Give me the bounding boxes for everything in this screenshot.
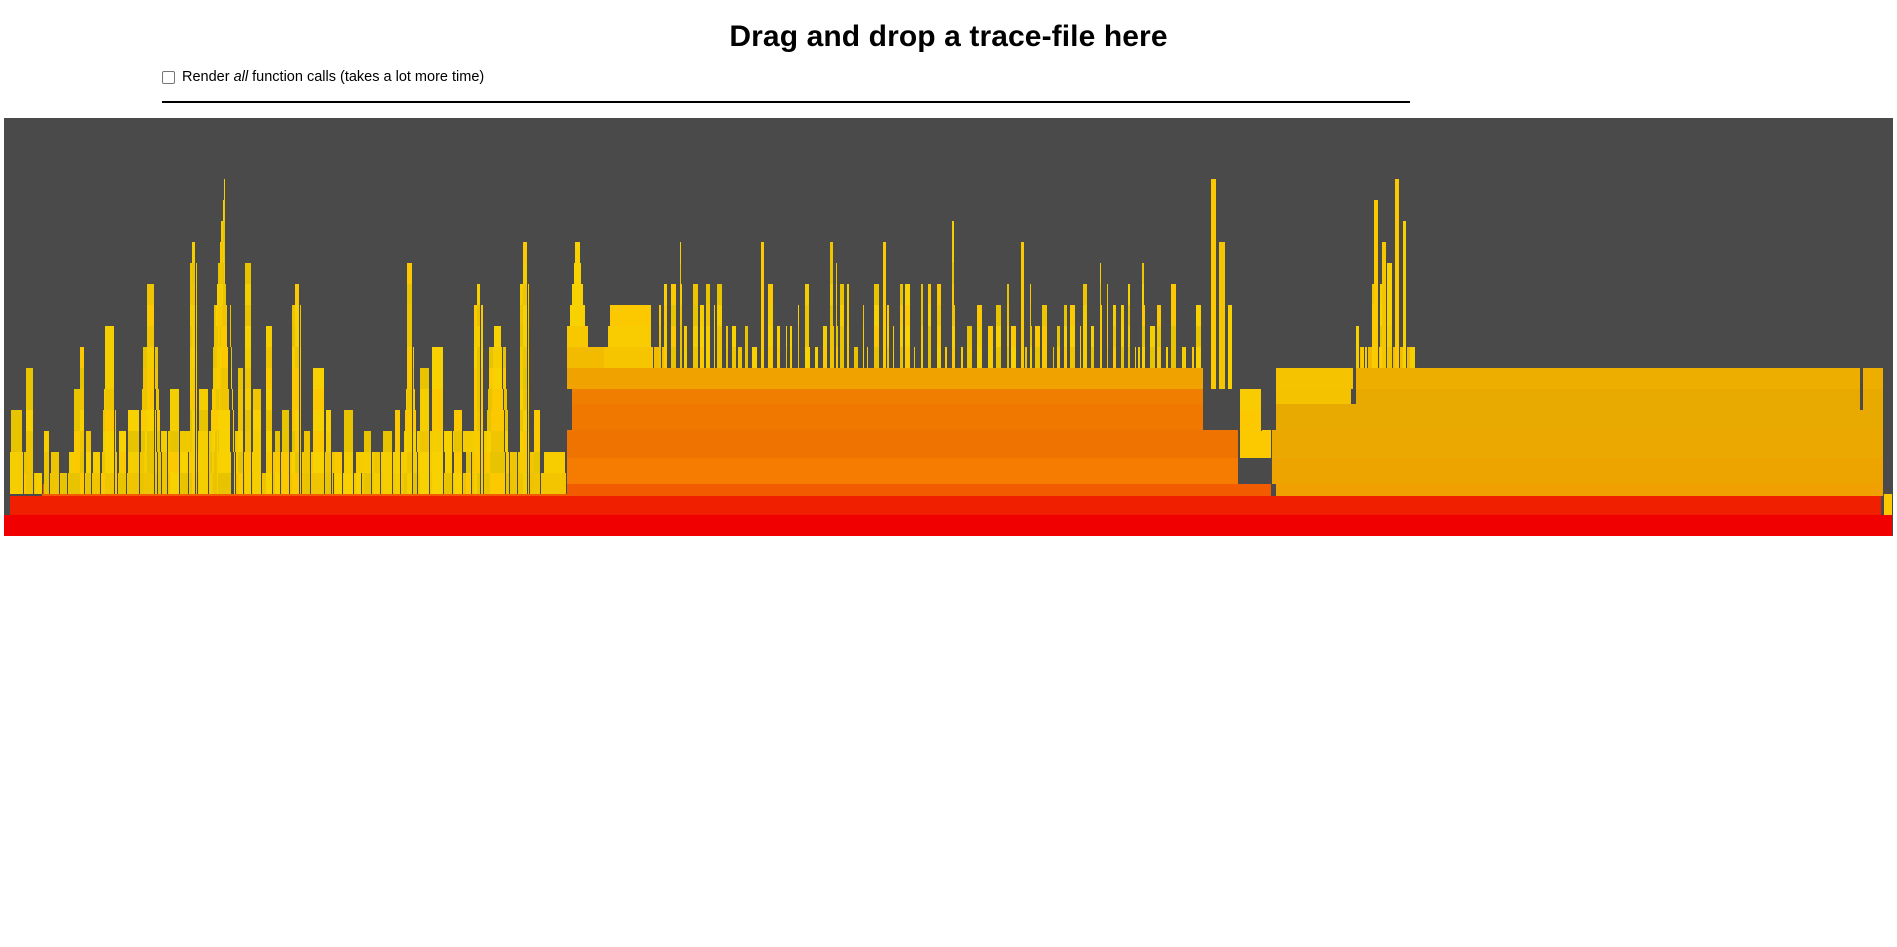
flame-frame[interactable] [523, 263, 528, 284]
flame-frame[interactable] [147, 473, 155, 494]
flame-frame[interactable] [996, 305, 1002, 326]
flame-frame[interactable] [224, 200, 226, 221]
flame-frame[interactable] [768, 305, 774, 326]
flame-frame[interactable] [714, 326, 716, 347]
flame-frame[interactable] [874, 284, 880, 305]
render-all-checkbox[interactable] [162, 71, 175, 84]
flame-frame[interactable] [671, 347, 677, 368]
flame-frame[interactable] [900, 347, 904, 368]
flame-frame[interactable] [863, 347, 865, 368]
flame-frame[interactable] [170, 431, 180, 452]
flame-frame[interactable] [1395, 179, 1400, 200]
flame-frame[interactable] [192, 452, 196, 473]
flame-frame[interactable] [1064, 326, 1068, 347]
flame-frame[interactable] [867, 347, 869, 368]
flame-frame[interactable] [512, 473, 518, 494]
flame-frame[interactable] [26, 368, 34, 389]
flame-frame[interactable] [245, 410, 252, 431]
flame-frame[interactable] [977, 326, 983, 347]
flame-frame[interactable] [798, 305, 800, 326]
flame-frame[interactable] [1100, 284, 1102, 305]
flame-frame[interactable] [1228, 347, 1233, 368]
flame-frame[interactable] [693, 347, 699, 368]
flame-frame[interactable] [928, 347, 932, 368]
flame-frame[interactable] [572, 284, 584, 305]
flame-frame[interactable] [840, 347, 845, 368]
flame-frame[interactable] [1403, 221, 1407, 242]
flame-frame[interactable] [147, 431, 155, 452]
flame-frame[interactable] [1121, 326, 1125, 347]
flame-frame[interactable] [700, 347, 705, 368]
flame-frame[interactable] [1382, 326, 1387, 347]
flame-frame[interactable] [407, 452, 413, 473]
flame-frame[interactable] [1196, 347, 1202, 368]
flame-frame[interactable] [937, 326, 942, 347]
flame-frame[interactable] [1007, 326, 1010, 347]
flame-frame[interactable] [407, 305, 413, 326]
flame-frame[interactable] [1100, 305, 1103, 326]
flame-frame[interactable] [1083, 305, 1088, 326]
flame-frame[interactable] [395, 452, 401, 473]
flame-frame[interactable] [313, 410, 325, 431]
flame-frame[interactable] [245, 347, 252, 368]
flame-frame[interactable] [1142, 263, 1145, 284]
flame-frame[interactable] [383, 473, 393, 494]
flame-frame[interactable] [700, 305, 705, 326]
flame-frame[interactable] [840, 326, 845, 347]
flame-frame[interactable] [295, 389, 300, 410]
flame-frame[interactable] [454, 452, 463, 473]
flame-frame[interactable] [80, 452, 85, 473]
flame-frame[interactable] [570, 305, 586, 326]
flame-frame[interactable] [407, 368, 413, 389]
flame-frame[interactable] [523, 284, 528, 305]
flame-frame-depth-5[interactable] [1276, 404, 1884, 430]
flame-frame[interactable] [680, 326, 683, 347]
flame-frame[interactable] [805, 347, 811, 368]
flame-frame[interactable] [1021, 305, 1025, 326]
flame-frame[interactable] [170, 473, 180, 494]
flame-frame[interactable] [1211, 200, 1217, 221]
flame-frame[interactable] [44, 452, 50, 473]
flame-frame[interactable] [937, 284, 942, 305]
flame-frame[interactable] [893, 326, 895, 347]
flame-frame[interactable] [1374, 284, 1379, 305]
flame-frame[interactable] [717, 305, 723, 326]
flame-frame[interactable] [86, 473, 92, 494]
flame-frame[interactable] [659, 347, 662, 368]
flame-frame[interactable] [238, 368, 244, 389]
flame-frame[interactable] [11, 410, 23, 431]
flame-frame[interactable] [952, 242, 955, 263]
flame-frame[interactable] [1403, 242, 1407, 263]
flame-frame[interactable] [523, 410, 528, 431]
flame-frame[interactable] [395, 410, 401, 431]
flame-frame[interactable] [854, 347, 859, 368]
flame-frame[interactable] [147, 326, 155, 347]
flame-frame[interactable] [1403, 347, 1407, 368]
flame-frame[interactable] [1395, 200, 1400, 221]
flame-frame[interactable] [224, 179, 226, 200]
flame-frame[interactable] [671, 326, 677, 347]
flame-frame[interactable] [761, 242, 765, 263]
flame-frame[interactable] [977, 305, 983, 326]
flame-frame[interactable] [777, 347, 781, 368]
flame-frame[interactable] [1410, 347, 1416, 368]
flame-frame[interactable] [1211, 221, 1217, 242]
flame-frame[interactable] [147, 284, 155, 305]
flame-frame[interactable] [344, 473, 354, 494]
flame-frame[interactable] [266, 431, 273, 452]
flame-frame[interactable] [836, 326, 839, 347]
flame-frame[interactable] [245, 305, 252, 326]
flame-frame[interactable] [523, 242, 528, 263]
flame-frame[interactable] [1113, 305, 1117, 326]
flame-frame[interactable] [93, 452, 101, 473]
flame-frame[interactable] [830, 242, 834, 263]
flame-frame[interactable] [275, 452, 281, 473]
flame-frame[interactable] [192, 347, 196, 368]
flame-frame[interactable] [44, 473, 50, 494]
flame-frame-depth-4[interactable] [1272, 430, 1884, 458]
flame-frame[interactable] [335, 452, 343, 473]
flame-frame[interactable] [238, 473, 244, 494]
flame-frame[interactable] [432, 389, 444, 410]
flame-frame[interactable] [714, 347, 716, 368]
flame-frame[interactable] [1374, 326, 1379, 347]
flame-frame[interactable] [805, 326, 810, 347]
flame-frame-depth-3[interactable] [567, 458, 1239, 484]
flame-frame[interactable] [1030, 347, 1033, 368]
flame-frame[interactable] [282, 452, 290, 473]
flame-frame[interactable] [326, 410, 332, 431]
flame-frame[interactable] [147, 368, 155, 389]
flame-frame[interactable] [1070, 305, 1076, 326]
flame-frame[interactable] [162, 452, 168, 473]
flame-frame[interactable] [493, 368, 503, 389]
flame-frame[interactable] [1374, 347, 1379, 368]
flame-frame[interactable] [1382, 284, 1387, 305]
flame-frame[interactable] [245, 326, 252, 347]
flame-frame[interactable] [1211, 326, 1217, 347]
flame-frame[interactable] [1387, 326, 1393, 347]
flame-frame[interactable] [224, 242, 226, 263]
flame-frame[interactable] [1219, 368, 1226, 389]
flame-frame[interactable] [266, 389, 273, 410]
flame-frame[interactable] [192, 263, 196, 284]
flame-frame[interactable] [863, 305, 865, 326]
flame-frame[interactable] [432, 347, 444, 368]
flame-frame[interactable] [80, 368, 85, 389]
flame-frame[interactable] [883, 305, 887, 326]
flame-frame[interactable] [905, 326, 911, 347]
flame-frame[interactable] [863, 326, 865, 347]
flame-frame[interactable] [147, 305, 155, 326]
flame-frame[interactable] [407, 410, 413, 431]
flame-frame[interactable] [732, 347, 737, 368]
flame-frame[interactable] [1211, 179, 1217, 200]
flame-frame[interactable] [238, 431, 244, 452]
flame-frame[interactable] [253, 431, 262, 452]
flame-frame[interactable] [407, 263, 413, 284]
flame-frame[interactable] [706, 284, 711, 305]
flame-frame[interactable] [768, 284, 774, 305]
flame-frame[interactable] [893, 347, 895, 368]
flame-frame[interactable] [1007, 305, 1010, 326]
flame-frame[interactable] [567, 368, 1204, 389]
flame-frame[interactable] [445, 452, 453, 473]
flame-frame[interactable] [684, 347, 688, 368]
flame-frame[interactable] [253, 389, 262, 410]
flame-frame[interactable] [883, 242, 887, 263]
flame-frame[interactable] [732, 326, 737, 347]
flame-frame[interactable] [1064, 305, 1068, 326]
flame-frame[interactable] [26, 431, 34, 452]
flame-frame[interactable] [295, 410, 300, 431]
flame-frame[interactable] [706, 305, 711, 326]
flame-frame[interactable] [490, 452, 506, 473]
flame-frame[interactable] [407, 326, 413, 347]
flame-frame[interactable] [996, 347, 1002, 368]
flame-frame[interactable] [840, 305, 845, 326]
flame-frame[interactable] [952, 305, 956, 326]
flame-frame[interactable] [275, 473, 281, 494]
flame-frame[interactable] [1211, 284, 1217, 305]
flame-frame[interactable] [745, 326, 749, 347]
flame-frame[interactable] [1395, 242, 1400, 263]
flame-frame[interactable] [266, 410, 273, 431]
flame-frame-depth-3[interactable] [1272, 458, 1884, 484]
flame-frame[interactable] [1395, 347, 1400, 368]
flame-frame[interactable] [364, 431, 372, 452]
flame-frame[interactable] [905, 305, 911, 326]
flame-frame[interactable] [432, 452, 444, 473]
flame-frame[interactable] [344, 452, 354, 473]
flame-frame[interactable] [1128, 305, 1131, 326]
flame-frame[interactable] [105, 410, 115, 431]
flame-frame[interactable] [1219, 305, 1226, 326]
flame-frame[interactable] [304, 431, 311, 452]
flame-frame[interactable] [790, 347, 793, 368]
flame-frame[interactable] [86, 452, 92, 473]
flame-frame[interactable] [1276, 368, 1354, 389]
flame-frame[interactable] [574, 263, 582, 284]
flame-frame[interactable] [224, 263, 226, 284]
flame-frame[interactable] [1157, 347, 1162, 368]
flame-frame[interactable] [752, 347, 758, 368]
flame-frame[interactable] [147, 410, 155, 431]
flame-frame[interactable] [1080, 326, 1082, 347]
flame-frame[interactable] [1042, 326, 1048, 347]
flame-frame[interactable] [1211, 347, 1217, 368]
flame-frame[interactable] [523, 347, 528, 368]
flame-frame[interactable] [805, 284, 810, 305]
flame-frame[interactable] [664, 347, 668, 368]
flame-frame[interactable] [823, 326, 828, 347]
flame-frame[interactable] [1030, 284, 1032, 305]
flame-frame[interactable] [344, 410, 354, 431]
flame-frame[interactable] [1387, 347, 1393, 368]
flame-frame[interactable] [768, 347, 774, 368]
flame-frame[interactable] [1007, 284, 1010, 305]
flame-frame[interactable] [1374, 221, 1379, 242]
flame-frame[interactable] [420, 473, 430, 494]
flame-frame[interactable] [1395, 263, 1400, 284]
flame-frame[interactable] [1171, 347, 1177, 368]
flame-frame[interactable] [420, 452, 430, 473]
flame-frame[interactable] [93, 473, 101, 494]
flame-frame[interactable] [10, 452, 24, 473]
flame-frame[interactable] [282, 410, 290, 431]
flame-frame[interactable] [420, 431, 430, 452]
flame-frame[interactable] [544, 452, 566, 473]
flame-frame[interactable] [928, 284, 932, 305]
flame-frame[interactable] [344, 431, 354, 452]
flame-frame[interactable] [1387, 263, 1393, 284]
flame-frame[interactable] [1157, 305, 1162, 326]
flame-frame[interactable] [1171, 326, 1177, 347]
flame-frame[interactable] [221, 368, 229, 389]
flame-frame[interactable] [147, 452, 155, 473]
flame-frame[interactable] [1403, 284, 1407, 305]
flame-frame[interactable] [847, 347, 850, 368]
flame-frame[interactable] [1395, 326, 1400, 347]
flame-frame[interactable] [51, 473, 60, 494]
flame-frame[interactable] [1395, 305, 1400, 326]
flame-frame[interactable] [466, 473, 472, 494]
flame-frame[interactable] [905, 347, 911, 368]
flame-frame[interactable] [1211, 368, 1217, 389]
flame-frame[interactable] [245, 452, 252, 473]
flame-frame[interactable] [128, 452, 140, 473]
flame-frame[interactable] [1387, 284, 1393, 305]
flame-frame[interactable] [432, 473, 444, 494]
flame-frame[interactable] [1053, 347, 1055, 368]
flame-frame[interactable] [1107, 326, 1109, 347]
flame-frame[interactable] [1374, 200, 1379, 221]
flame-frame[interactable] [313, 452, 325, 473]
flame-frame[interactable] [1196, 305, 1202, 326]
flame-frame[interactable] [1182, 347, 1187, 368]
flame-frame[interactable] [1021, 347, 1025, 368]
flame-frame[interactable] [304, 452, 311, 473]
flame-frame[interactable] [128, 431, 140, 452]
flame-frame[interactable] [61, 473, 68, 494]
flame-frame[interactable] [477, 326, 481, 347]
flame-frame[interactable] [1860, 368, 1863, 410]
flame-frame[interactable] [466, 452, 472, 473]
flame-frame[interactable] [659, 326, 662, 347]
flame-frame[interactable] [1403, 263, 1407, 284]
flame-frame[interactable] [477, 389, 481, 410]
flame-frame[interactable] [245, 431, 252, 452]
flame-frame[interactable] [192, 305, 196, 326]
flame-frame[interactable] [1211, 305, 1217, 326]
flame-frame[interactable] [952, 284, 955, 305]
flame-frame[interactable] [295, 305, 300, 326]
flame-frame[interactable] [477, 410, 481, 431]
flame-frame[interactable] [523, 452, 528, 473]
flame-frame[interactable] [1021, 326, 1025, 347]
flame-frame[interactable] [266, 326, 273, 347]
flame-frame-depth-5[interactable] [572, 404, 1204, 430]
flame-frame[interactable] [491, 410, 505, 431]
flame-frame[interactable] [610, 305, 652, 326]
flame-frame[interactable] [192, 473, 196, 494]
flame-frame[interactable] [80, 410, 85, 431]
flame-frame-depth-4[interactable] [1240, 430, 1272, 458]
flame-frame[interactable] [1219, 284, 1226, 305]
flame-frame[interactable] [105, 431, 115, 452]
flame-frame[interactable] [798, 347, 800, 368]
flame-frame[interactable] [477, 305, 481, 326]
flame-frame[interactable] [1387, 305, 1393, 326]
flame-frame[interactable] [717, 347, 723, 368]
flame-frame[interactable] [988, 326, 994, 347]
flame-frame[interactable] [407, 473, 413, 494]
flame-frame[interactable] [815, 347, 819, 368]
flame-frame[interactable] [420, 410, 430, 431]
flame-frame[interactable] [1083, 284, 1088, 305]
flame-frame[interactable] [680, 305, 683, 326]
flame-frame[interactable] [313, 368, 325, 389]
flame-frame[interactable] [1142, 326, 1146, 347]
flame-frame[interactable] [900, 305, 904, 326]
flame-frame[interactable] [238, 452, 244, 473]
flame-frame[interactable] [1064, 347, 1068, 368]
flame-frame[interactable] [693, 284, 699, 305]
flame-frame[interactable] [80, 389, 85, 410]
flame-frame[interactable] [1121, 347, 1125, 368]
flame-frame[interactable] [1192, 347, 1195, 368]
flame-frame[interactable] [383, 452, 393, 473]
flame-frame[interactable] [1100, 347, 1103, 368]
flame-frame[interactable] [1128, 326, 1131, 347]
flame-frame[interactable] [407, 347, 413, 368]
flame-frame[interactable] [170, 410, 180, 431]
flame-frame[interactable] [491, 431, 505, 452]
flame-frame[interactable] [1403, 326, 1407, 347]
flame-frame[interactable] [304, 473, 311, 494]
flame-frame[interactable] [1395, 221, 1400, 242]
flame-frame[interactable] [395, 473, 401, 494]
flame-frame[interactable] [1171, 305, 1177, 326]
flame-frame[interactable] [11, 431, 23, 452]
flame-frame[interactable] [664, 305, 668, 326]
flame-frame[interactable] [1007, 347, 1010, 368]
flame-frame[interactable] [105, 473, 115, 494]
flame-frame[interactable] [1113, 347, 1117, 368]
flame-frame[interactable] [967, 326, 973, 347]
flame-frame[interactable] [717, 284, 723, 305]
flame-frame[interactable] [900, 326, 904, 347]
flame-frame[interactable] [432, 410, 444, 431]
flame-frame[interactable] [119, 473, 127, 494]
flame-frame[interactable] [26, 473, 34, 494]
flame-frame[interactable] [199, 389, 209, 410]
flame-frame[interactable] [192, 242, 196, 263]
flame-frame[interactable] [420, 368, 430, 389]
flame-frame[interactable] [181, 452, 189, 473]
flame-frame[interactable] [1157, 326, 1162, 347]
flame-frame[interactable] [1382, 347, 1387, 368]
flame-frame[interactable] [1374, 263, 1379, 284]
flame-frame[interactable] [266, 368, 273, 389]
flame-frame[interactable] [761, 347, 765, 368]
flame-frame[interactable] [44, 431, 50, 452]
flame-frame[interactable] [1057, 347, 1061, 368]
flame-frame[interactable] [192, 284, 196, 305]
